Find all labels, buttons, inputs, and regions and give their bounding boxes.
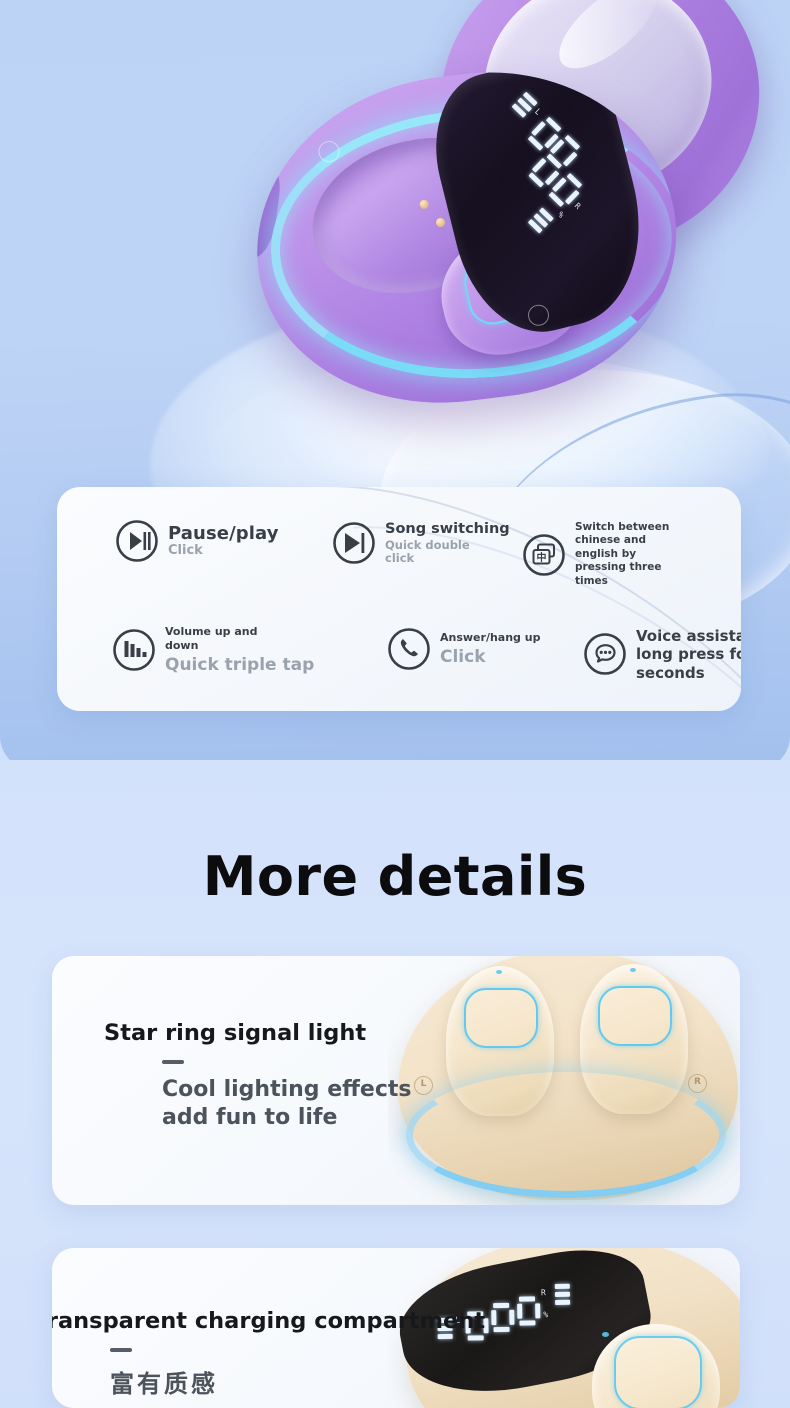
detail-card-transparent-compartment: L R % [52, 1248, 740, 1408]
product-listing-page: L [0, 0, 790, 1392]
feature-title: Song switching [385, 521, 510, 539]
led-digits: L [444, 90, 635, 281]
feature-title: Answer/hang up [440, 631, 540, 645]
feature-volume: Volume up and down Quick triple tap [112, 625, 314, 675]
led-percent-label: % [556, 210, 566, 220]
feature-song-switching: Song switching Quick double click [332, 521, 510, 565]
phone-handset-icon [387, 627, 431, 671]
led-dot [630, 968, 636, 972]
controls-feature-card: Pause/play Click Song switching Quick do… [57, 487, 741, 711]
led-dot [496, 970, 502, 974]
feature-subtitle: Click [440, 648, 540, 667]
feature-subtitle: Click [168, 544, 279, 559]
feature-title: Voice assistant long press for 3 seconds [636, 627, 741, 682]
next-track-icon [332, 521, 376, 565]
language-switch-icon: 中 [522, 533, 566, 577]
detail-title: Transparent charging compartment [52, 1308, 434, 1334]
feature-title: Switch between chinese and english by pr… [575, 521, 687, 588]
touch-hex-icon [598, 986, 672, 1046]
led-left-label: L [533, 107, 543, 117]
detail-text-block: Star ring signal light Cool lighting eff… [104, 1020, 464, 1132]
feature-grid: Pause/play Click Song switching Quick do… [57, 487, 741, 711]
detail-card-star-ring: L R Star ring signal light Cool lighting… [52, 956, 740, 1205]
feature-title: Volume up and down [165, 625, 269, 653]
touch-hex-icon [614, 1336, 702, 1408]
detail-title: Star ring signal light [104, 1020, 464, 1046]
feature-language-switch: 中 Switch between chinese and english by … [522, 521, 687, 588]
led-right-label: R [541, 1288, 546, 1297]
detail-divider [162, 1060, 184, 1064]
detail-text-block: Transparent charging compartment 富有质感 [52, 1308, 434, 1399]
more-details-heading: More details [0, 845, 790, 908]
feature-answer-hangup: Answer/hang up Click [387, 627, 540, 671]
led-percent-label: % [543, 1310, 548, 1319]
led-right-label: R [573, 201, 583, 211]
volume-bars-icon [112, 628, 156, 672]
detail-subtitle: 富有质感 [110, 1364, 434, 1399]
feature-subtitle: Quick triple tap [165, 656, 314, 675]
feature-title: Pause/play [168, 524, 279, 544]
product-image-purple-case: L [250, 0, 790, 440]
feature-subtitle: Quick double click [385, 539, 477, 565]
play-pause-icon [115, 519, 159, 563]
feature-pause-play: Pause/play Click [115, 519, 279, 563]
feature-voice-assistant: Voice assistant long press for 3 seconds [583, 627, 741, 682]
voice-assistant-icon [583, 632, 627, 676]
detail-subtitle: Cool lighting effects add fun to life [162, 1076, 462, 1132]
touch-hex-icon [464, 988, 538, 1048]
led-dot [602, 1332, 609, 1337]
bud-right-marking: R [688, 1074, 707, 1093]
svg-text:中: 中 [537, 551, 547, 564]
